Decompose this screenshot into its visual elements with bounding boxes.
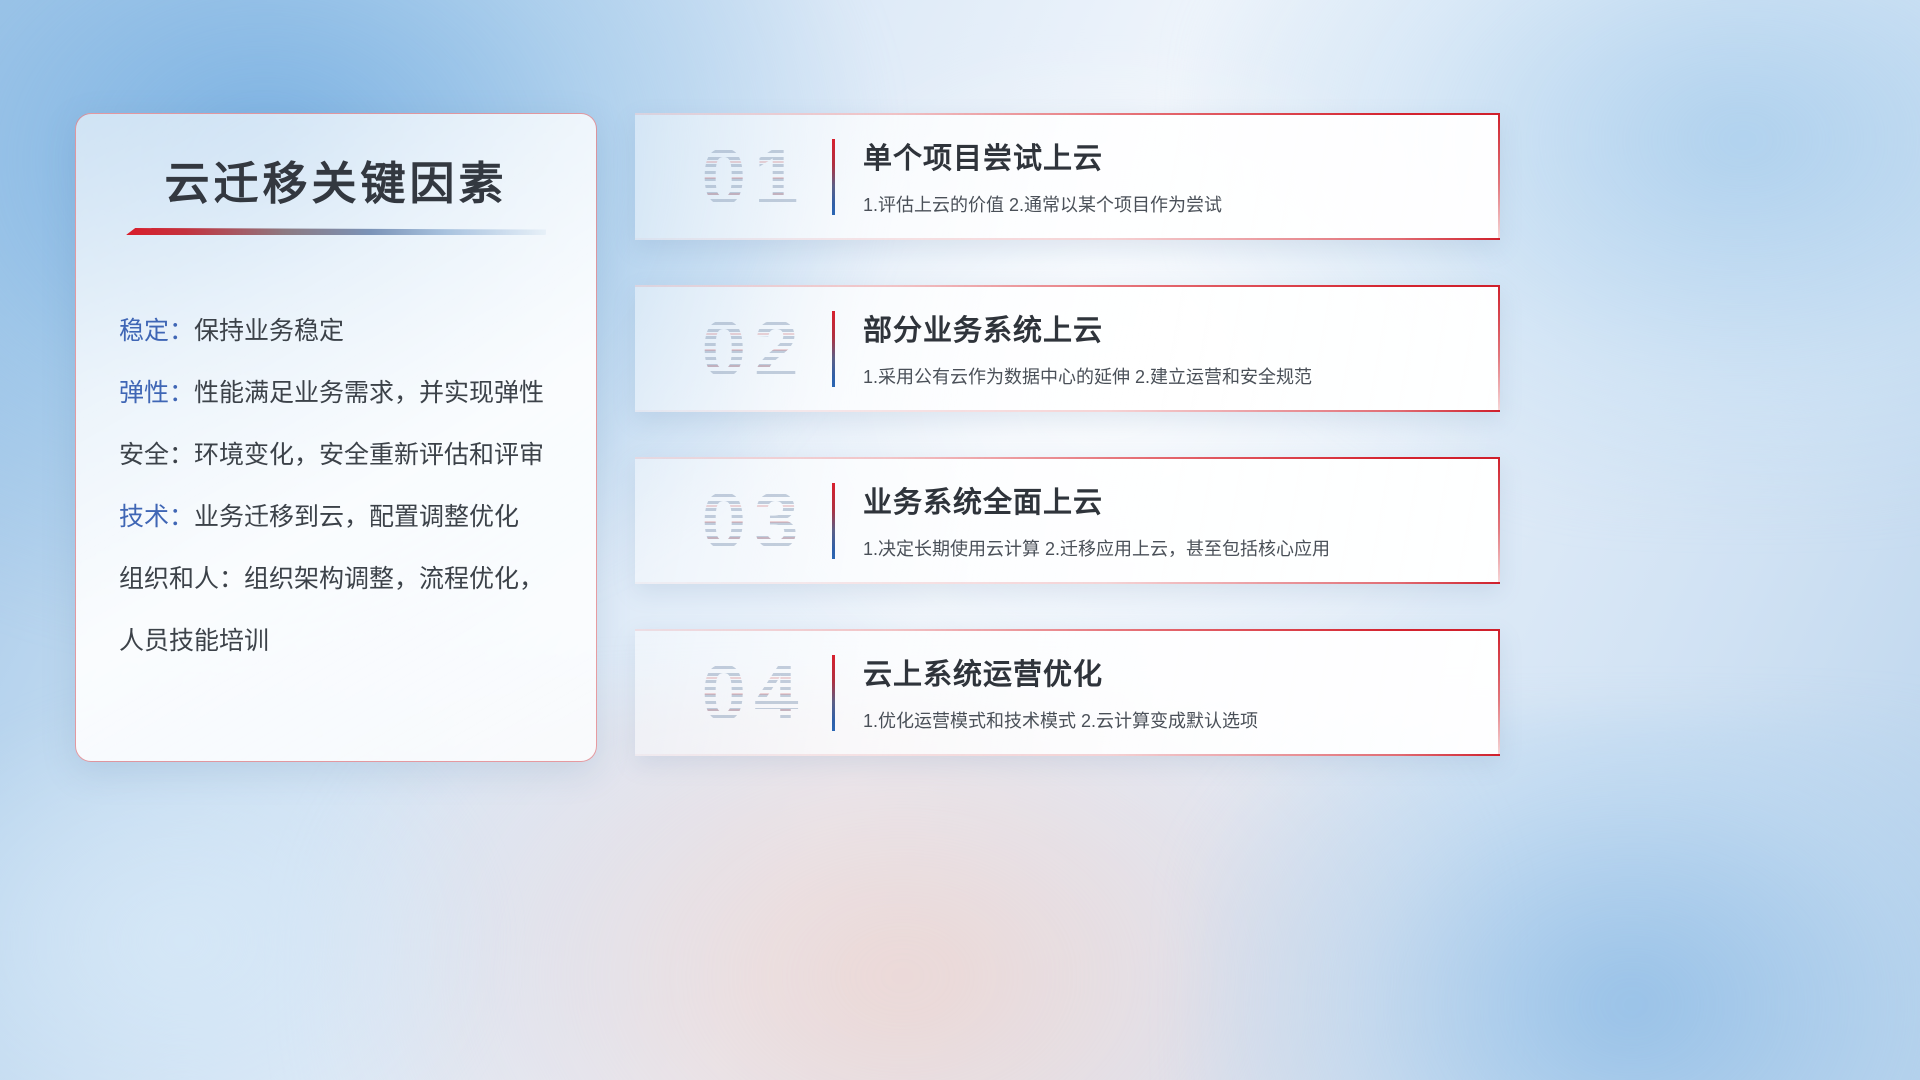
factor-item-security: 安全：环境变化，安全重新评估和评审	[119, 424, 566, 486]
card-body: 单个项目尝试上云 1.评估上云的价值 2.通常以某个项目作为尝试	[863, 135, 1476, 217]
stage-number-watermark-tint: 03	[659, 473, 849, 569]
stage-number-watermark-tint: 02	[659, 301, 849, 397]
stage-description: 1.评估上云的价值 2.通常以某个项目作为尝试	[863, 191, 1476, 217]
stage-card[interactable]: 02 02 部分业务系统上云 1.采用公有云作为数据中心的延伸 2.建立运营和安…	[635, 285, 1500, 412]
factor-text: 性能满足业务需求，并实现弹性	[194, 379, 544, 407]
card-top-accent-line	[635, 457, 1500, 459]
card-bottom-accent-line	[635, 754, 1500, 756]
card-bottom-accent-line	[635, 410, 1500, 412]
stage-title: 单个项目尝试上云	[863, 135, 1476, 177]
stage-description: 1.优化运营模式和技术模式 2.云计算变成默认选项	[863, 707, 1476, 733]
factor-label: 弹性：	[119, 379, 194, 407]
factor-text: 环境变化，安全重新评估和评审	[194, 441, 544, 469]
stage-card[interactable]: 03 03 业务系统全面上云 1.决定长期使用云计算 2.迁移应用上云，甚至包括…	[635, 457, 1500, 584]
background-glow-bottom-right	[1190, 713, 1920, 1080]
stage-description: 1.决定长期使用云计算 2.迁移应用上云，甚至包括核心应用	[863, 535, 1476, 561]
card-bottom-accent-line	[635, 582, 1500, 584]
key-factors-panel: 云迁移关键因素 稳定：保持业务稳定 弹性：性能满足业务需求，并实现弹性 安全：环…	[75, 113, 597, 762]
stage-description: 1.采用公有云作为数据中心的延伸 2.建立运营和安全规范	[863, 363, 1476, 389]
factor-item-organization-continued: 人员技能培训	[119, 610, 566, 672]
factor-list: 稳定：保持业务稳定 弹性：性能满足业务需求，并实现弹性 安全：环境变化，安全重新…	[119, 300, 566, 672]
factor-text: 人员技能培训	[119, 627, 269, 655]
factor-item-stability: 稳定：保持业务稳定	[119, 300, 566, 362]
card-body: 云上系统运营优化 1.优化运营模式和技术模式 2.云计算变成默认选项	[863, 651, 1476, 733]
page-title: 云迁移关键因素	[76, 147, 596, 212]
card-divider-bar	[832, 139, 835, 215]
card-right-accent-line	[1498, 285, 1500, 412]
stage-title: 业务系统全面上云	[863, 479, 1476, 521]
card-right-accent-line	[1498, 629, 1500, 756]
factor-text: 业务迁移到云，配置调整优化	[194, 503, 519, 531]
stage-number-watermark-tint: 04	[659, 645, 849, 741]
stage-number-watermark-tint: 01	[659, 129, 849, 225]
card-divider-bar	[832, 311, 835, 387]
factor-text: 保持业务稳定	[194, 317, 344, 345]
card-divider-bar	[832, 483, 835, 559]
factor-item-elasticity: 弹性：性能满足业务需求，并实现弹性	[119, 362, 566, 424]
factor-text: 组织架构调整，流程优化，	[244, 565, 544, 593]
card-top-accent-line	[635, 629, 1500, 631]
stage-title: 云上系统运营优化	[863, 651, 1476, 693]
stage-card[interactable]: 01 01 单个项目尝试上云 1.评估上云的价值 2.通常以某个项目作为尝试	[635, 113, 1500, 240]
stage-card[interactable]: 04 04 云上系统运营优化 1.优化运营模式和技术模式 2.云计算变成默认选项	[635, 629, 1500, 756]
card-right-accent-line	[1498, 457, 1500, 584]
card-top-accent-line	[635, 285, 1500, 287]
factor-label: 技术：	[119, 503, 194, 531]
factor-item-organization: 组织和人：组织架构调整，流程优化，	[119, 548, 566, 610]
card-divider-bar	[832, 655, 835, 731]
factor-label: 安全：	[119, 441, 194, 469]
card-top-accent-line	[635, 113, 1500, 115]
card-right-accent-line	[1498, 113, 1500, 240]
title-underline-accent	[126, 228, 546, 235]
card-bottom-accent-line	[635, 238, 1500, 240]
card-body: 部分业务系统上云 1.采用公有云作为数据中心的延伸 2.建立运营和安全规范	[863, 307, 1476, 389]
factor-label: 组织和人：	[119, 565, 244, 593]
factor-item-technology: 技术：业务迁移到云，配置调整优化	[119, 486, 566, 548]
card-body: 业务系统全面上云 1.决定长期使用云计算 2.迁移应用上云，甚至包括核心应用	[863, 479, 1476, 561]
stage-title: 部分业务系统上云	[863, 307, 1476, 349]
stage-card-list: 01 01 单个项目尝试上云 1.评估上云的价值 2.通常以某个项目作为尝试 0…	[635, 113, 1500, 756]
factor-label: 稳定：	[119, 317, 194, 345]
